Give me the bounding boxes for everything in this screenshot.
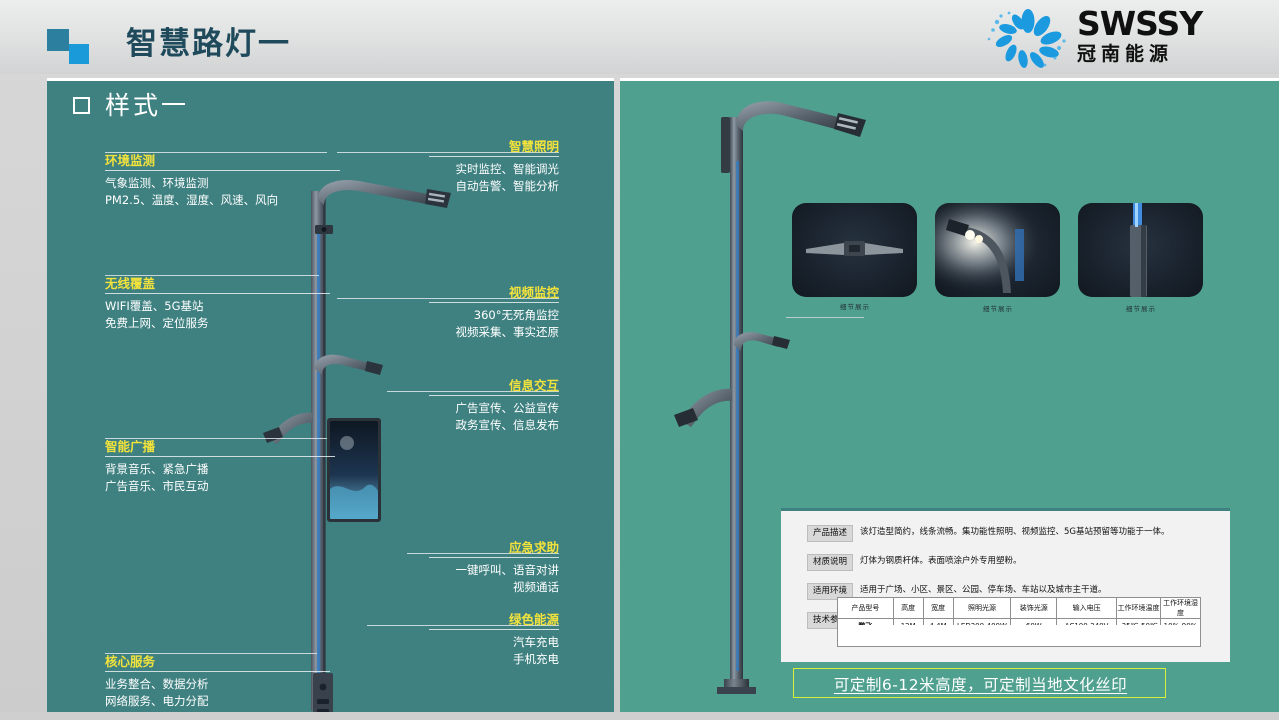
callout-line: 广告宣传、公益宣传 <box>429 400 559 417</box>
callout-line: 免费上网、定位服务 <box>105 315 330 332</box>
callout-line: 自动告警、智能分析 <box>429 178 559 195</box>
page-title: 智慧路灯一 <box>126 18 291 63</box>
spec-text: 该灯造型简约，线条流畅。集功能性照明、视频监控、5G基站预留等功能于一体。 <box>860 525 1170 540</box>
table-header-cell: 照明光源 <box>953 598 1011 619</box>
callout-line: 视频采集、事实还原 <box>429 324 559 341</box>
callout-line: 汽车充电 <box>429 634 559 651</box>
water-drop-flower-icon <box>985 8 1071 70</box>
callout-video-surveillance: 视频监控 360°无死角监控 视频采集、事实还原 <box>429 285 559 341</box>
spec-row-material: 材质说明 灯体为钢质杆体。表面喷涂户外专用塑粉。 <box>807 554 1230 571</box>
thumbnail-caption: 细节展示 <box>795 301 915 311</box>
customization-note: 可定制6-12米高度，可定制当地文化丝印 <box>794 669 1167 699</box>
callout-line: 气象监测、环境监测 <box>105 175 340 192</box>
table-header-cell: 宽度 <box>923 598 953 619</box>
table-header-row: 产品型号 高度 宽度 照明光源 装饰光源 输入电压 工作环境温度 工作环境湿度 <box>838 598 1201 619</box>
callout-smart-lighting: 智慧照明 实时监控、智能调光 自动告警、智能分析 <box>429 139 559 195</box>
callout-rule <box>429 302 559 303</box>
callout-line: 实时监控、智能调光 <box>429 161 559 178</box>
callout-rule <box>105 170 340 171</box>
callout-line: 视频通话 <box>429 579 559 596</box>
spec-row-description: 产品描述 该灯造型简约，线条流畅。集功能性照明、视频监控、5G基站预留等功能于一… <box>807 525 1230 542</box>
callout-rule <box>429 629 559 630</box>
callout-line: 网络服务、电力分配 <box>105 693 330 710</box>
left-content-panel: 样式一 <box>47 78 614 712</box>
table-header-cell: 输入电压 <box>1057 598 1117 619</box>
callout-emergency-help: 应急求助 一键呼叫、语音对讲 视频通话 <box>429 540 559 596</box>
callout-line: WIFI覆盖、5G基站 <box>105 298 330 315</box>
customization-note-box: 可定制6-12米高度，可定制当地文化丝印 <box>793 668 1166 698</box>
brand-logo: SWSSY 冠南能源 <box>965 4 1265 72</box>
slide-root: 智慧路灯一 <box>0 0 1279 720</box>
callout-title: 环境监测 <box>105 153 340 170</box>
callout-line: 广告音乐、市民互动 <box>105 478 335 495</box>
callout-rule <box>429 557 559 558</box>
callout-rule <box>105 293 330 294</box>
callout-title: 智能广播 <box>105 439 335 456</box>
brand-subname: 冠南能源 <box>1077 42 1263 66</box>
thumbnail-caption: 细节展示 <box>938 303 1058 313</box>
callout-information-interaction: 信息交互 广告宣传、公益宣传 政务宣传、信息发布 <box>429 378 559 434</box>
callout-title: 信息交互 <box>429 378 559 395</box>
callout-title: 智慧照明 <box>429 139 559 156</box>
callout-line: 手机充电 <box>429 651 559 668</box>
brand-name: SWSSY <box>1077 6 1263 42</box>
callout-rule <box>105 456 335 457</box>
detail-thumbnail-arm <box>792 203 917 297</box>
thumbnail-caption: 细节展示 <box>1081 303 1201 313</box>
header-accent-square-dark-icon <box>47 29 69 51</box>
header-accent-square-light-icon <box>69 44 89 64</box>
callout-env-monitoring: 环境监测 气象监测、环境监测 PM2.5、温度、湿度、风速、风向 <box>105 153 340 209</box>
slide-header: 智慧路灯一 <box>0 0 1279 74</box>
table-filler-row <box>837 625 1201 647</box>
callout-rule <box>429 156 559 157</box>
callout-core-service: 核心服务 业务整合、数据分析 网络服务、电力分配 <box>105 654 330 710</box>
callout-rule <box>429 395 559 396</box>
detail-thumbnail-pole <box>1078 203 1203 297</box>
callout-line: PM2.5、温度、湿度、风速、风向 <box>105 192 340 209</box>
table-header-cell: 高度 <box>893 598 923 619</box>
spec-text: 适用于广场、小区、景区、公园、停车场、车站以及城市主干道。 <box>860 583 1107 598</box>
callout-line: 一键呼叫、语音对讲 <box>429 562 559 579</box>
spec-tag: 产品描述 <box>807 525 853 542</box>
callout-green-energy: 绿色能源 汽车充电 手机充电 <box>429 612 559 668</box>
callout-smart-broadcast: 智能广播 背景音乐、紧急广播 广告音乐、市民互动 <box>105 439 335 495</box>
thumbnail-underline <box>786 317 864 318</box>
brand-logo-text: SWSSY 冠南能源 <box>1077 6 1263 66</box>
callout-title: 视频监控 <box>429 285 559 302</box>
callout-line: 360°无死角监控 <box>429 307 559 324</box>
callout-wireless-coverage: 无线覆盖 WIFI覆盖、5G基站 免费上网、定位服务 <box>105 276 330 332</box>
callout-title: 绿色能源 <box>429 612 559 629</box>
callout-line: 业务整合、数据分析 <box>105 676 330 693</box>
table-header-cell: 工作环境湿度 <box>1160 598 1200 619</box>
callout-line: 政务宣传、信息发布 <box>429 417 559 434</box>
table-header-cell: 产品型号 <box>838 598 894 619</box>
spec-text: 灯体为钢质杆体。表面喷涂户外专用塑粉。 <box>860 554 1022 569</box>
detail-thumbnail-lit-head <box>935 203 1060 297</box>
table-header-cell: 工作环境温度 <box>1117 598 1161 619</box>
callout-rule <box>105 671 330 672</box>
table-header-cell: 装饰光源 <box>1011 598 1057 619</box>
callout-line: 背景音乐、紧急广播 <box>105 461 335 478</box>
callout-title: 应急求助 <box>429 540 559 557</box>
spec-tag: 材质说明 <box>807 554 853 571</box>
callout-title: 核心服务 <box>105 654 330 671</box>
callout-title: 无线覆盖 <box>105 276 330 293</box>
slide-footer <box>0 712 1279 720</box>
